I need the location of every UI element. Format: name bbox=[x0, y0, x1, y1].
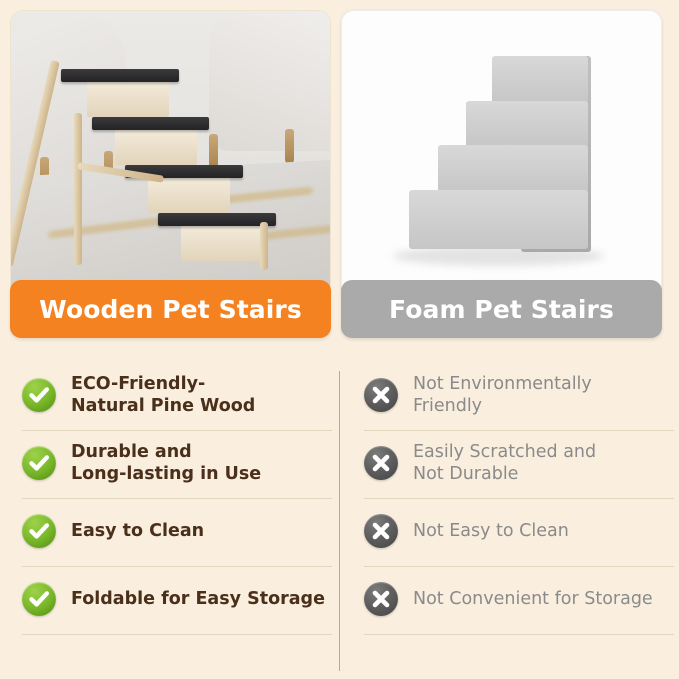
pros-column: ECO-Friendly- Natural Pine Wood Durable … bbox=[22, 355, 332, 635]
pro-item: Easy to Clean bbox=[22, 499, 332, 567]
foam-label-text: Foam Pet Stairs bbox=[389, 295, 614, 324]
pro-item: Durable and Long-lasting in Use bbox=[22, 431, 332, 499]
stair-riser bbox=[115, 128, 197, 165]
foam-pet-stairs-label: Foam Pet Stairs bbox=[341, 280, 662, 338]
con-item: Not Environmentally Friendly bbox=[364, 355, 674, 431]
con-item-label: Not Easy to Clean bbox=[413, 520, 569, 542]
foam-step bbox=[409, 190, 588, 249]
check-circle-icon bbox=[22, 514, 56, 548]
con-item: Easily Scratched and Not Durable bbox=[364, 431, 674, 499]
wooden-pet-stairs-photo bbox=[10, 10, 331, 292]
x-circle-icon bbox=[364, 514, 398, 548]
stair-tread bbox=[92, 117, 209, 130]
con-item: Not Convenient for Storage bbox=[364, 567, 674, 635]
column-divider bbox=[339, 371, 340, 671]
pro-item-label: ECO-Friendly- Natural Pine Wood bbox=[71, 373, 255, 417]
x-circle-icon bbox=[364, 582, 398, 616]
stair-frame-rail bbox=[74, 113, 82, 266]
pro-item-label: Easy to Clean bbox=[71, 520, 204, 542]
con-item-label: Easily Scratched and Not Durable bbox=[413, 441, 596, 485]
foam-step bbox=[466, 101, 587, 149]
pro-item: Foldable for Easy Storage bbox=[22, 567, 332, 635]
product-card-foam[interactable]: Foam Pet Stairs bbox=[341, 10, 662, 352]
check-circle-icon bbox=[22, 446, 56, 480]
con-item-label: Not Convenient for Storage bbox=[413, 588, 653, 610]
wooden-label-text: Wooden Pet Stairs bbox=[39, 295, 302, 324]
pro-item: ECO-Friendly- Natural Pine Wood bbox=[22, 355, 332, 431]
stair-tread bbox=[158, 213, 275, 226]
stair-riser bbox=[87, 80, 169, 117]
stair-frame-rail bbox=[260, 222, 268, 270]
pro-item-label: Durable and Long-lasting in Use bbox=[71, 441, 261, 485]
foam-step bbox=[492, 56, 588, 104]
comparison-infographic: Wooden Pet Stairs Foam Pet Stairs bbox=[0, 0, 679, 679]
comparison-section: ECO-Friendly- Natural Pine Wood Durable … bbox=[0, 355, 679, 679]
x-circle-icon bbox=[364, 378, 398, 412]
pro-item-label: Foldable for Easy Storage bbox=[71, 588, 325, 610]
cons-column: Not Environmentally Friendly Easily Scra… bbox=[364, 355, 674, 635]
check-circle-icon bbox=[22, 378, 56, 412]
foam-step bbox=[438, 145, 588, 193]
x-circle-icon bbox=[364, 446, 398, 480]
con-item: Not Easy to Clean bbox=[364, 499, 674, 567]
product-card-wooden[interactable]: Wooden Pet Stairs bbox=[10, 10, 331, 352]
stair-riser bbox=[181, 224, 263, 261]
con-item-label: Not Environmentally Friendly bbox=[413, 373, 592, 417]
check-circle-icon bbox=[22, 582, 56, 616]
foam-pet-stairs-photo bbox=[341, 10, 662, 292]
product-cards: Wooden Pet Stairs Foam Pet Stairs bbox=[0, 0, 679, 352]
wooden-stairs-unit bbox=[46, 56, 301, 274]
stair-tread bbox=[61, 69, 178, 82]
wooden-pet-stairs-label: Wooden Pet Stairs bbox=[10, 280, 331, 338]
